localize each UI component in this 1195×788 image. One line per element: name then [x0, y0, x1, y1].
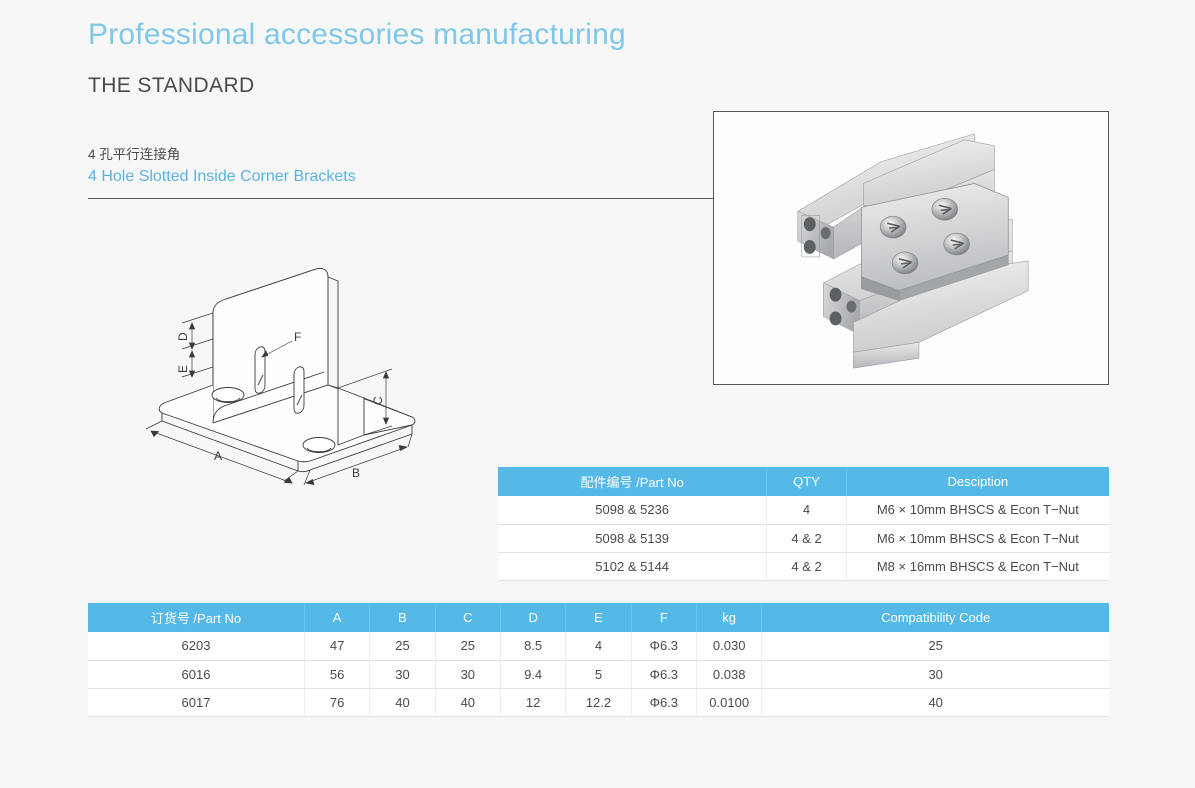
- spec-cell-a: 76: [304, 688, 369, 716]
- spec-header-b: B: [370, 603, 435, 632]
- spec-cell-c: 25: [435, 632, 500, 660]
- spec-cell-compatibility-code: 25: [762, 632, 1109, 660]
- spec-header-kg: kg: [697, 603, 762, 632]
- spec-cell-c: 30: [435, 660, 500, 688]
- table-row: 5098 & 5236 4 M6 × 10mm BHSCS & Econ T−N…: [498, 496, 1109, 524]
- spec-cell-d: 12: [500, 688, 565, 716]
- technical-drawing: D E F A B C: [120, 245, 470, 555]
- dimension-label-e: E: [176, 365, 190, 373]
- product-name-chinese: 4 孔平行连接角: [88, 143, 180, 163]
- product-photo: [713, 111, 1109, 385]
- parts-header-part-no: 配件编号 /Part No: [498, 467, 767, 496]
- dimension-label-f: F: [294, 330, 301, 344]
- table-row: 6017 76 40 40 12 12.2 Φ6.3 0.0100 40: [88, 688, 1109, 716]
- spec-cell-e: 4: [566, 632, 631, 660]
- spec-cell-e: 5: [566, 660, 631, 688]
- table-row: 6203 47 25 25 8.5 4 Φ6.3 0.030 25: [88, 632, 1109, 660]
- spec-cell-compatibility-code: 30: [762, 660, 1109, 688]
- spec-cell-kg: 0.0100: [697, 688, 762, 716]
- product-name-english: 4 Hole Slotted Inside Corner Brackets: [88, 168, 356, 186]
- table-row: 6016 56 30 30 9.4 5 Φ6.3 0.038 30: [88, 660, 1109, 688]
- spec-header-d: D: [500, 603, 565, 632]
- spec-header-f: F: [631, 603, 696, 632]
- parts-cell-description: M6 × 10mm BHSCS & Econ T−Nut: [846, 524, 1109, 552]
- spec-cell-c: 40: [435, 688, 500, 716]
- spec-cell-part-no: 6017: [88, 688, 304, 716]
- spec-cell-a: 47: [304, 632, 369, 660]
- spec-cell-e: 12.2: [566, 688, 631, 716]
- parts-header-description: Desciption: [846, 467, 1109, 496]
- parts-table: 配件编号 /Part No QTY Desciption 5098 & 5236…: [498, 467, 1109, 581]
- spec-cell-part-no: 6203: [88, 632, 304, 660]
- specification-table: 订货号 /Part No A B C D E F kg Compatibilit…: [88, 603, 1109, 717]
- spec-cell-b: 25: [370, 632, 435, 660]
- section-divider: [88, 198, 715, 199]
- page-subtitle: THE STANDARD: [88, 74, 255, 98]
- spec-cell-kg: 0.030: [697, 632, 762, 660]
- parts-cell-part-no: 5098 & 5139: [498, 524, 767, 552]
- dimension-label-c: C: [371, 396, 385, 405]
- parts-cell-qty: 4 & 2: [767, 524, 846, 552]
- spec-cell-f: Φ6.3: [631, 688, 696, 716]
- parts-table-header-row: 配件编号 /Part No QTY Desciption: [498, 467, 1109, 496]
- parts-cell-qty: 4: [767, 496, 846, 524]
- table-row: 5098 & 5139 4 & 2 M6 × 10mm BHSCS & Econ…: [498, 524, 1109, 552]
- spec-cell-kg: 0.038: [697, 660, 762, 688]
- spec-cell-a: 56: [304, 660, 369, 688]
- spec-cell-d: 8.5: [500, 632, 565, 660]
- parts-cell-part-no: 5102 & 5144: [498, 552, 767, 580]
- spec-cell-b: 40: [370, 688, 435, 716]
- spec-cell-f: Φ6.3: [631, 660, 696, 688]
- parts-cell-description: M8 × 16mm BHSCS & Econ T−Nut: [846, 552, 1109, 580]
- parts-cell-qty: 4 & 2: [767, 552, 846, 580]
- parts-header-qty: QTY: [767, 467, 846, 496]
- spec-cell-part-no: 6016: [88, 660, 304, 688]
- spec-cell-f: Φ6.3: [631, 632, 696, 660]
- dimension-label-d: D: [176, 332, 190, 341]
- spec-cell-b: 30: [370, 660, 435, 688]
- spec-header-e: E: [566, 603, 631, 632]
- page-title: Professional accessories manufacturing: [88, 18, 626, 52]
- table-row: 5102 & 5144 4 & 2 M8 × 16mm BHSCS & Econ…: [498, 552, 1109, 580]
- dimension-label-b: B: [352, 466, 360, 480]
- spec-header-part-no: 订货号 /Part No: [88, 603, 304, 632]
- datasheet-page: Professional accessories manufacturing T…: [0, 0, 1195, 788]
- spec-cell-compatibility-code: 40: [762, 688, 1109, 716]
- spec-cell-d: 9.4: [500, 660, 565, 688]
- spec-table-header-row: 订货号 /Part No A B C D E F kg Compatibilit…: [88, 603, 1109, 632]
- parts-cell-part-no: 5098 & 5236: [498, 496, 767, 524]
- spec-header-compatibility-code: Compatibility Code: [762, 603, 1109, 632]
- spec-header-a: A: [304, 603, 369, 632]
- spec-header-c: C: [435, 603, 500, 632]
- parts-cell-description: M6 × 10mm BHSCS & Econ T−Nut: [846, 496, 1109, 524]
- dimension-label-a: A: [214, 449, 222, 463]
